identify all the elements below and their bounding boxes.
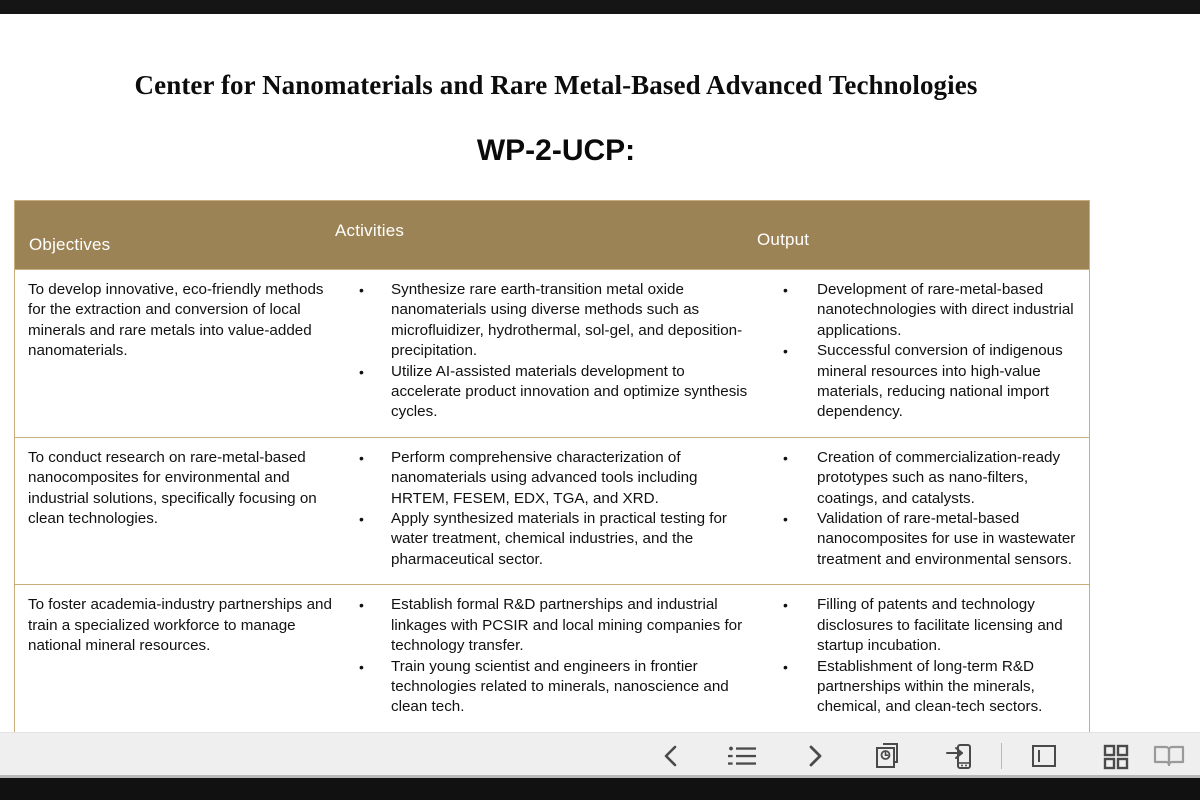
chevron-right-icon [804,743,826,769]
bullet-icon: • [783,341,788,361]
table-row: To develop innovative, eco-friendly meth… [15,269,1089,437]
bullet-icon: • [359,657,364,677]
cell-activities: •Establish formal R&D partnerships and i… [345,585,765,731]
send-to-device-button[interactable] [923,733,995,779]
viewer-toolbar [0,732,1200,778]
cell-objective: To develop innovative, eco-friendly meth… [15,270,345,437]
list-item: •Establish formal R&D partnerships and i… [355,595,755,656]
bottom-letterbox-bar [0,778,1200,800]
activities-list: •Synthesize rare earth-transition metal … [355,280,755,423]
activities-list: •Establish formal R&D partnerships and i… [355,595,755,717]
cell-objective: To foster academia-industry partnerships… [15,585,345,731]
top-letterbox-bar [0,0,1200,14]
output-list: •Development of rare-metal-based nanotec… [773,280,1079,423]
recent-pages-button[interactable] [851,733,923,779]
bullet-icon: • [783,448,788,468]
column-header-activities: Activities [335,221,404,241]
table-row: To foster academia-industry partnerships… [15,584,1089,731]
objectives-table: Objectives Activities Output To develop … [14,200,1090,733]
list-item: •Synthesize rare earth-transition metal … [355,280,755,362]
list-item: •Perform comprehensive characterization … [355,448,755,509]
bullet-icon: • [359,595,364,615]
list-icon [728,744,758,768]
bullet-icon: • [783,595,788,615]
bullet-icon: • [359,280,364,300]
page-subtitle: WP-2-UCP: [0,134,1112,168]
list-item: •Train young scientist and engineers in … [355,657,755,718]
phone-arrow-icon [944,741,974,771]
bullet-icon: • [359,448,364,468]
previous-slide-button[interactable] [635,733,707,779]
table-header-row: Objectives Activities Output [15,201,1089,269]
column-header-output: Output [757,230,809,250]
open-book-icon [1152,742,1186,770]
grid-view-button[interactable] [1080,733,1152,779]
reading-mode-button[interactable] [1152,733,1200,779]
list-item: •Validation of rare-metal-based nanocomp… [773,509,1079,570]
pages-clock-icon [872,741,902,771]
activities-list: •Perform comprehensive characterization … [355,448,755,570]
slide-canvas: Center for Nanomaterials and Rare Metal-… [0,14,1200,732]
bullet-icon: • [783,657,788,677]
cell-activities: •Perform comprehensive characterization … [345,438,765,584]
bullet-icon: • [359,509,364,529]
cell-objective: To conduct research on rare-metal-based … [15,438,345,584]
page-title: Center for Nanomaterials and Rare Metal-… [0,70,1112,101]
cell-output: •Creation of commercialization-ready pro… [765,438,1089,584]
list-item: •Development of rare-metal-based nanotec… [773,280,1079,341]
output-list: •Filling of patents and technology discl… [773,595,1079,717]
list-item: •Successful conversion of indigenous min… [773,341,1079,423]
next-slide-button[interactable] [779,733,851,779]
cell-output: •Development of rare-metal-based nanotec… [765,270,1089,437]
output-list: •Creation of commercialization-ready pro… [773,448,1079,570]
bullet-icon: • [783,509,788,529]
slide-viewer: Center for Nanomaterials and Rare Metal-… [0,0,1200,800]
list-item: •Apply synthesized materials in practica… [355,509,755,570]
bullet-icon: • [783,280,788,300]
toolbar-divider [1001,743,1002,769]
list-item: •Utilize AI-assisted materials developme… [355,362,755,423]
column-header-objectives: Objectives [29,235,110,255]
list-item: •Establishment of long-term R&D partners… [773,657,1079,718]
grid-icon [1102,742,1130,770]
list-item: •Filling of patents and technology discl… [773,595,1079,656]
bullet-icon: • [359,362,364,382]
sidebar-toggle-button[interactable] [1008,733,1080,779]
cell-activities: •Synthesize rare earth-transition metal … [345,270,765,437]
table-row: To conduct research on rare-metal-based … [15,437,1089,584]
list-item: •Creation of commercialization-ready pro… [773,448,1079,509]
cell-output: •Filling of patents and technology discl… [765,585,1089,731]
slide-list-button[interactable] [707,733,779,779]
chevron-left-icon [660,743,682,769]
sidebar-panel-icon [1030,742,1058,770]
